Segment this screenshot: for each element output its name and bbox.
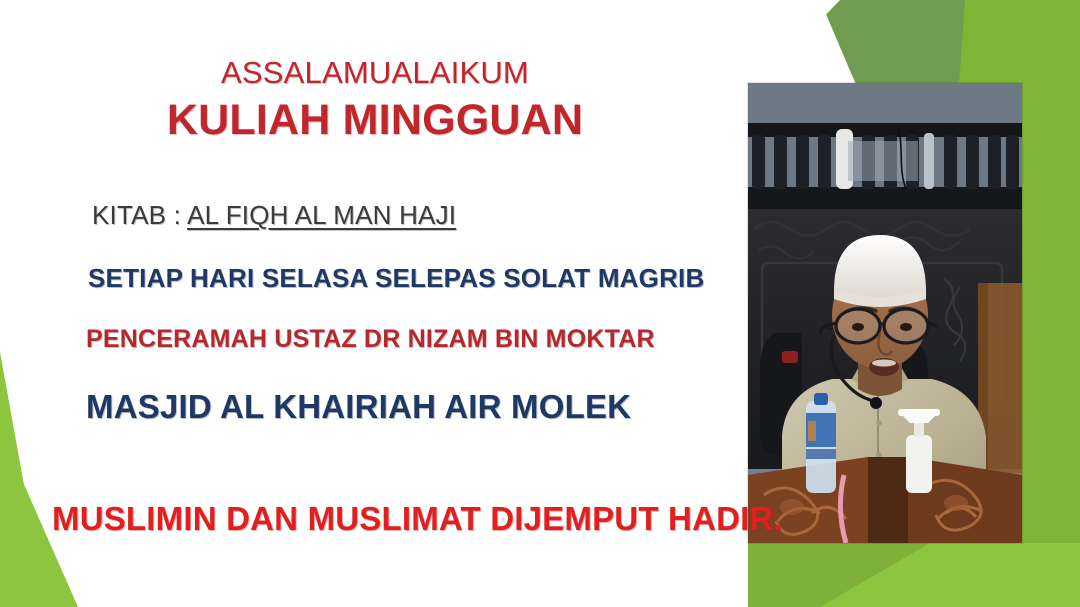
poster-text-column: ASSALAMUALAIKUM KULIAH MINGGUAN KITAB : … (0, 0, 750, 607)
speaker-text: PENCERAMAH USTAZ DR NIZAM BIN MOKTAR (86, 325, 655, 354)
page-title: KULIAH MINGGUAN (0, 96, 750, 145)
kitab-value: AL FIQH AL MAN HAJI (187, 200, 456, 230)
invitation-text: MUSLIMIN DAN MUSLIMAT DIJEMPUT HADIR. (52, 500, 783, 538)
water-bottle (806, 393, 836, 493)
speaker-photo (748, 83, 1022, 543)
greeting-text: ASSALAMUALAIKUM (0, 55, 750, 91)
kitab-label: KITAB : (92, 200, 181, 230)
white-sliver-top (748, 0, 840, 83)
kitab-line: KITAB : AL FIQH AL MAN HAJI (92, 200, 456, 231)
green-wedge-bottom-right-light (860, 543, 1080, 607)
green-wedge-right-edge (1024, 0, 1080, 607)
poster-canvas: ASSALAMUALAIKUM KULIAH MINGGUAN KITAB : … (0, 0, 1080, 607)
venue-text: MASJID AL KHAIRIAH AIR MOLEK (86, 388, 631, 426)
schedule-text: SETIAP HARI SELASA SELEPAS SOLAT MAGRIB (88, 263, 704, 294)
green-wedge-bottom-right-dark (748, 543, 930, 607)
green-wedge-bottom-right (748, 543, 1080, 607)
